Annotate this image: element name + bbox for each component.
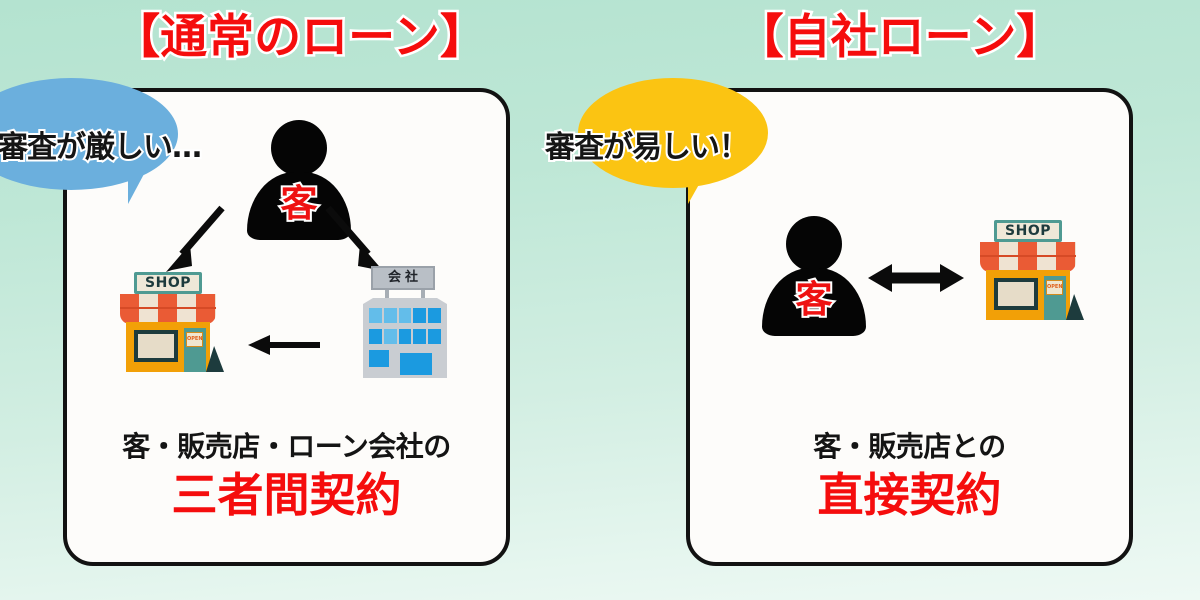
shop-sign-label-left: SHOP [134,272,202,294]
shop-awning-icon [120,294,216,324]
company-window-row-1 [369,308,441,323]
company-window [413,308,426,323]
arrow-company-to-shop-icon [246,330,322,360]
company-window [384,329,397,344]
arrow-double-customer-shop-icon [868,258,964,298]
caption-normal-loan: 客・販売店・ローン会社の 三者間契約 [63,428,510,524]
infographic-canvas: 【通常のローン】 【自社ローン】 審査が厳しい… 客 SHOP OPEN 会社 [0,0,1200,600]
company-window [369,329,382,344]
shop-window-icon [134,330,178,362]
company-window [428,329,441,344]
company-window [384,308,397,323]
company-window [413,329,426,344]
caption-in-house-loan: 客・販売店との 直接契約 [686,428,1133,524]
panel-title-normal-loan: 【通常のローン】 [0,6,600,70]
speech-bubble-text-easy-review: 審査が易しい！ [545,122,748,166]
company-window-lower [369,350,389,367]
panel-title-in-house-loan: 【自社ローン】 [600,6,1200,70]
loan-company-icon: 会社 [355,266,455,378]
customer-head-icon [786,216,842,272]
caption-line-2-left: 三者間契約 [63,466,510,524]
company-window [399,308,412,323]
company-window-row-2 [369,329,441,344]
speech-bubble-tail-yellow [688,160,720,204]
shop-open-sign-left: OPEN [186,332,203,347]
caption-line-1-left: 客・販売店・ローン会社の [63,428,510,466]
caption-line-2-right: 直接契約 [686,466,1133,524]
speech-bubble-text-strict-review: 審査が厳しい… [0,122,201,166]
shop-sign-label-right: SHOP [994,220,1062,242]
company-window [428,308,441,323]
company-sign-post-left-icon [385,290,389,298]
company-window [369,308,382,323]
shop-open-sign-right: OPEN [1046,280,1063,295]
customer-head-icon [271,120,327,176]
arrow-customer-to-shop-icon [160,200,230,280]
shop-icon-left: SHOP OPEN [120,272,228,374]
company-sign-label: 会社 [371,266,435,290]
shop-icon-right: SHOP OPEN [980,220,1088,322]
customer-label-right: 客 [760,278,868,322]
customer-icon-right: 客 [760,216,868,336]
company-entrance-icon [397,350,435,378]
shop-awning-icon [980,242,1076,272]
speech-bubble-tail-blue [128,160,156,204]
caption-line-1-right: 客・販売店との [686,428,1133,466]
company-sign-post-right-icon [421,290,425,298]
shop-window-icon [994,278,1038,310]
company-window [399,329,412,344]
